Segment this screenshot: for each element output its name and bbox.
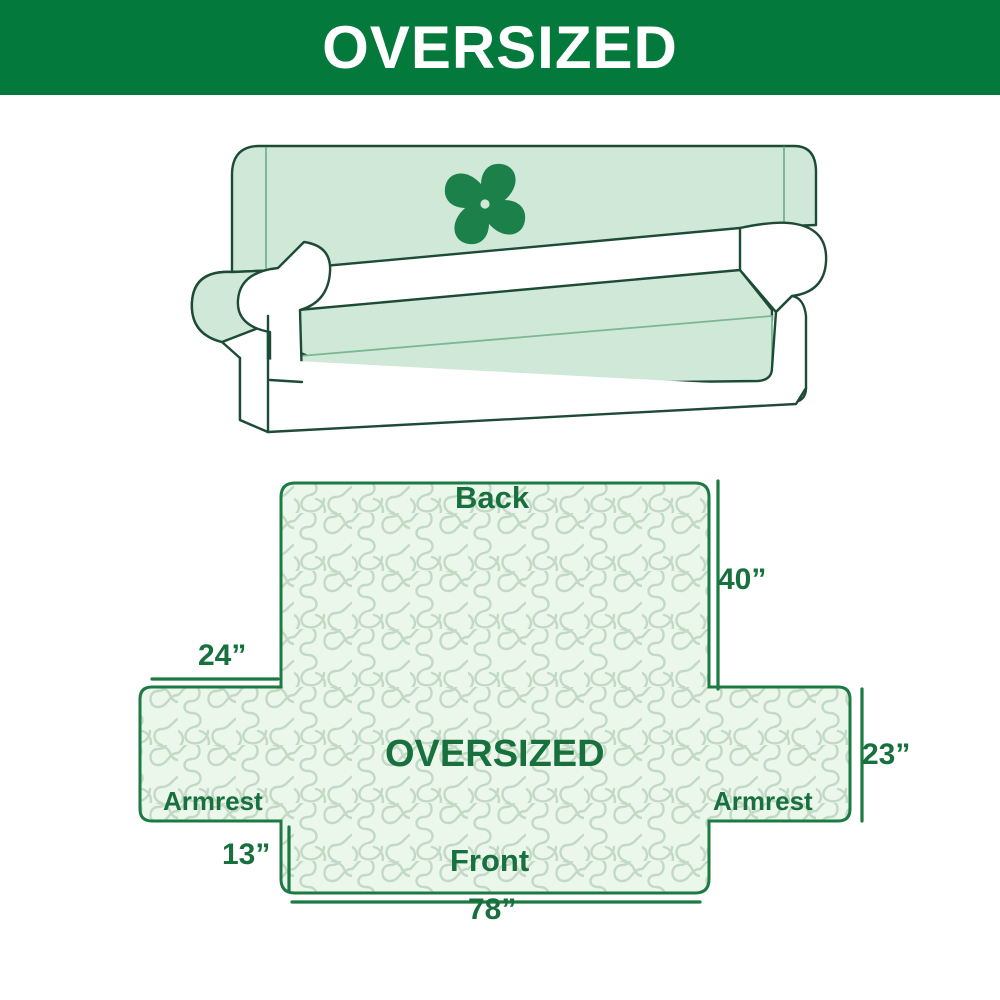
sofa-drawing-svg — [180, 120, 830, 440]
panel-label-oversized: OVERSIZED — [385, 735, 605, 773]
dimension-label-front-drop: 13” — [222, 840, 270, 870]
dimension-label-armrest-width: 24” — [198, 641, 246, 671]
dimension-label-armrest-height: 23” — [862, 740, 910, 770]
fan-pinwheel-icon — [445, 164, 525, 244]
panel-label-armrest-left: Armrest — [163, 788, 263, 814]
product-size-infographic: OVERSIZED — [0, 0, 1000, 1000]
panel-label-armrest-right: Armrest — [713, 788, 813, 814]
dimension-label-back-height: 40” — [718, 565, 766, 595]
header-banner: OVERSIZED — [0, 0, 1000, 95]
panel-label-back: Back — [455, 482, 529, 513]
dimension-label-total-width: 78” — [468, 895, 516, 925]
panel-label-front: Front — [450, 845, 529, 876]
sofa-illustration — [180, 120, 830, 440]
page-title: OVERSIZED — [322, 18, 678, 78]
